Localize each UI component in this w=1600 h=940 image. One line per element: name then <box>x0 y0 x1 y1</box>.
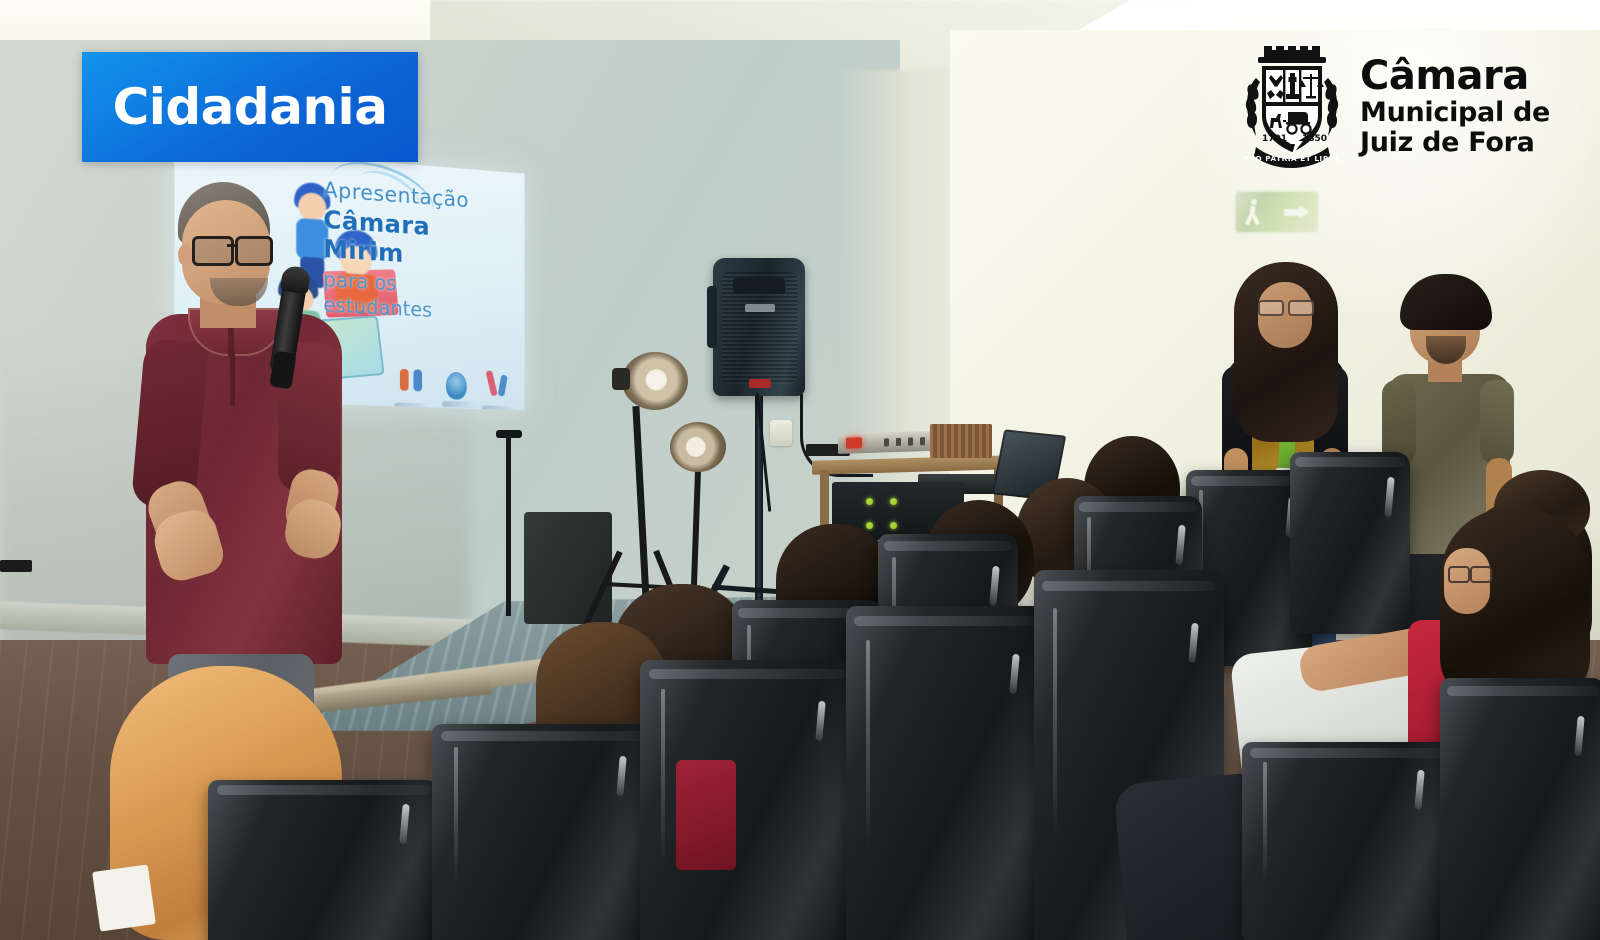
coat-of-arms-icon: 1701 1850 PRO PATRIA ET LIBRE <box>1238 44 1346 168</box>
crest-date-right: 1850 <box>1302 134 1327 144</box>
chair <box>846 606 1046 940</box>
paper-sheet <box>92 864 156 931</box>
audience-clothing <box>676 760 736 870</box>
wall-object <box>0 560 32 572</box>
category-badge-label: Cidadania <box>113 78 388 136</box>
broadcaster-name: Câmara Municipal de Juiz de Fora <box>1360 56 1550 156</box>
chair <box>1242 742 1452 940</box>
audience-eyeglasses <box>1448 566 1490 580</box>
chair <box>640 660 854 940</box>
chair <box>432 724 656 940</box>
chair <box>208 780 440 940</box>
crest-motto: PRO PATRIA ET LIBRE <box>1243 154 1340 163</box>
chair <box>1290 452 1410 634</box>
logo-line-3: Juiz de Fora <box>1360 129 1550 156</box>
logo-line-1: Câmara <box>1360 56 1550 96</box>
video-frame: Apresentação Câmara Mirim para os estuda… <box>0 0 1600 940</box>
broadcaster-logo: 1701 1850 PRO PATRIA ET LIBRE Câmara Mun… <box>1238 42 1568 170</box>
logo-line-2: Municipal de <box>1360 99 1550 126</box>
category-badge: Cidadania <box>82 52 418 162</box>
crest-date-left: 1701 <box>1262 134 1287 144</box>
chair <box>1440 678 1600 940</box>
